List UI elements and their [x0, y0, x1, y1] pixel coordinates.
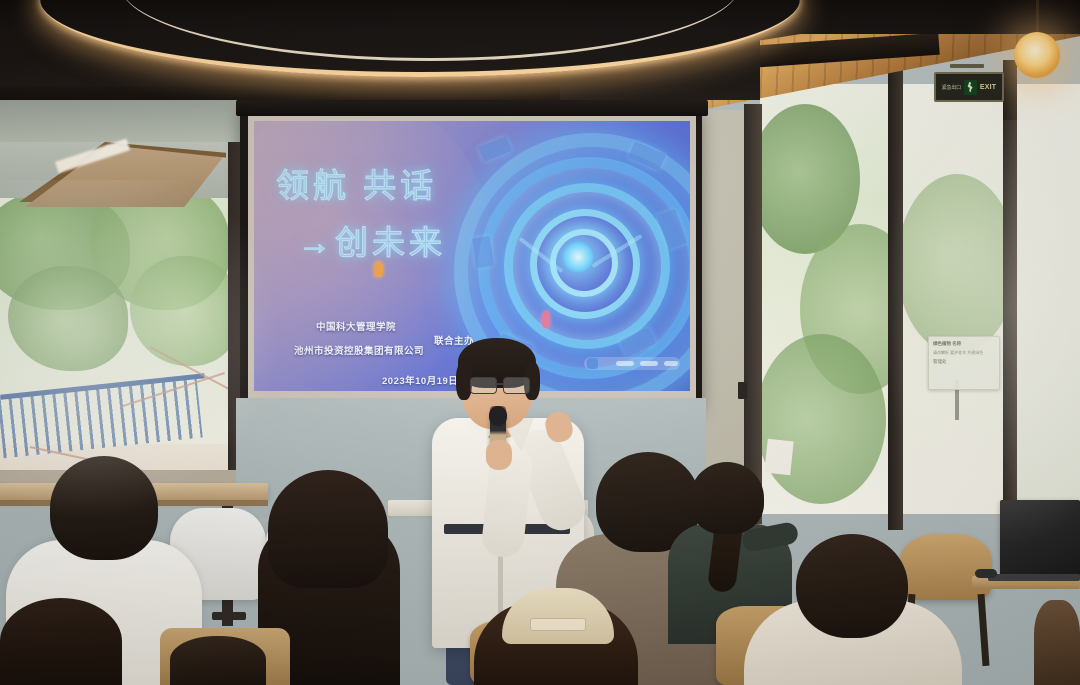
slide-organizer-1: 中国科大管理学院: [316, 319, 396, 333]
audience-head: [690, 462, 764, 534]
foliage-shape: [8, 266, 128, 371]
ceiling-soffit: [0, 100, 250, 142]
graphic-core: [562, 241, 594, 273]
foliage-shape: [903, 174, 1003, 354]
cap-strap: [530, 618, 586, 631]
slide-figure-orange: [374, 261, 383, 277]
placard-title: 绿色植物 名称: [933, 341, 995, 348]
slide-title-line-2: →创未来: [298, 226, 446, 259]
dark-pillar: [744, 104, 762, 524]
slide-figure-pink: [542, 311, 550, 328]
slide-logo-chip: [664, 361, 678, 366]
presentation-photo: 绿色植物 名称 请勿攀折 爱护花木 共建绿色 管理处 紧急出口 EXIT: [0, 0, 1080, 685]
slide-logo-strip: [584, 357, 680, 370]
mouse-icon[interactable]: [975, 569, 997, 578]
microphone-head: [489, 406, 507, 426]
audience-head: [170, 636, 266, 685]
slide-logo-chip: [640, 361, 658, 366]
audience-head: [50, 456, 158, 560]
slide-title-line-1: 领航 共话: [276, 169, 437, 202]
table-foot: [212, 612, 246, 620]
running-man-icon: [964, 80, 977, 95]
slide-organizer-2: 池州市投资控股集团有限公司: [294, 343, 424, 357]
slide-logo-chip: [616, 361, 634, 366]
audience-head: [1034, 600, 1080, 685]
audience-head: [268, 470, 388, 588]
eyeglasses-icon: [470, 377, 497, 394]
right-window-3: [1017, 84, 1080, 514]
left-window: [0, 196, 232, 496]
window-mullion: [888, 60, 903, 530]
audience-head: [0, 598, 122, 685]
wall-switch-icon: [738, 382, 747, 399]
garden-placard: 绿色植物 名称 请勿攀折 爱护花木 共建绿色 管理处: [928, 336, 1000, 390]
exit-sign-bracket: [950, 64, 984, 68]
pendant-light-icon: [1014, 32, 1060, 78]
right-window-2: [903, 84, 1003, 514]
laptop[interactable]: [1000, 500, 1080, 576]
audience-head: [796, 534, 908, 638]
exit-sign-en-label: EXIT: [980, 84, 996, 91]
laptop-base[interactable]: [988, 574, 1080, 581]
paper-sheet: [764, 439, 793, 476]
projection-screen-top-bar: [236, 100, 708, 116]
graphic-block: [478, 136, 512, 162]
placard-footer: 管理处: [933, 359, 995, 365]
foliage-shape: [760, 334, 886, 504]
eyeglasses-bridge: [495, 383, 503, 385]
speaker-left-hand: [486, 440, 512, 470]
exit-sign-cn-label: 紧急出口: [942, 84, 961, 91]
placard-body: 请勿攀折 爱护花木 共建绿色: [933, 350, 995, 356]
foliage-shape: [130, 256, 232, 366]
window-mullion: [1003, 60, 1017, 530]
slide-date: 2023年10月19日: [382, 373, 458, 387]
eyeglasses-icon: [503, 377, 530, 394]
exit-sign: 紧急出口 EXIT: [934, 72, 1004, 102]
slide-logo-mark: [587, 358, 598, 369]
chair: [900, 534, 992, 600]
